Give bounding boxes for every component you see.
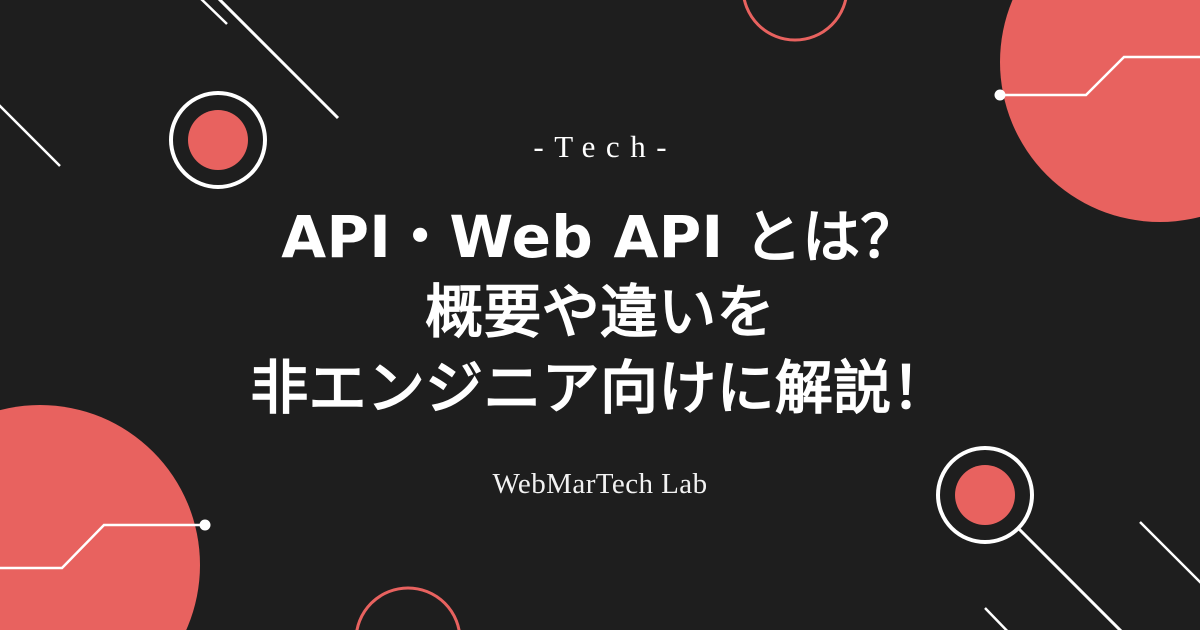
brand-name: WebMarTech Lab xyxy=(492,470,707,499)
category-eyebrow: -Tech- xyxy=(523,131,677,162)
page-title: API・Web API とは？ 概要や違いを 非エンジニア向けに解説！ xyxy=(250,200,949,426)
content-block: -Tech- API・Web API とは？ 概要や違いを 非エンジニア向けに解… xyxy=(0,0,1200,630)
page-title-line-3: 非エンジニア向けに解説！ xyxy=(250,351,949,426)
page-title-line-1: API・Web API とは？ xyxy=(250,200,949,275)
page-title-line-2: 概要や違いを xyxy=(250,275,949,350)
og-image-canvas: -Tech- API・Web API とは？ 概要や違いを 非エンジニア向けに解… xyxy=(0,0,1200,630)
